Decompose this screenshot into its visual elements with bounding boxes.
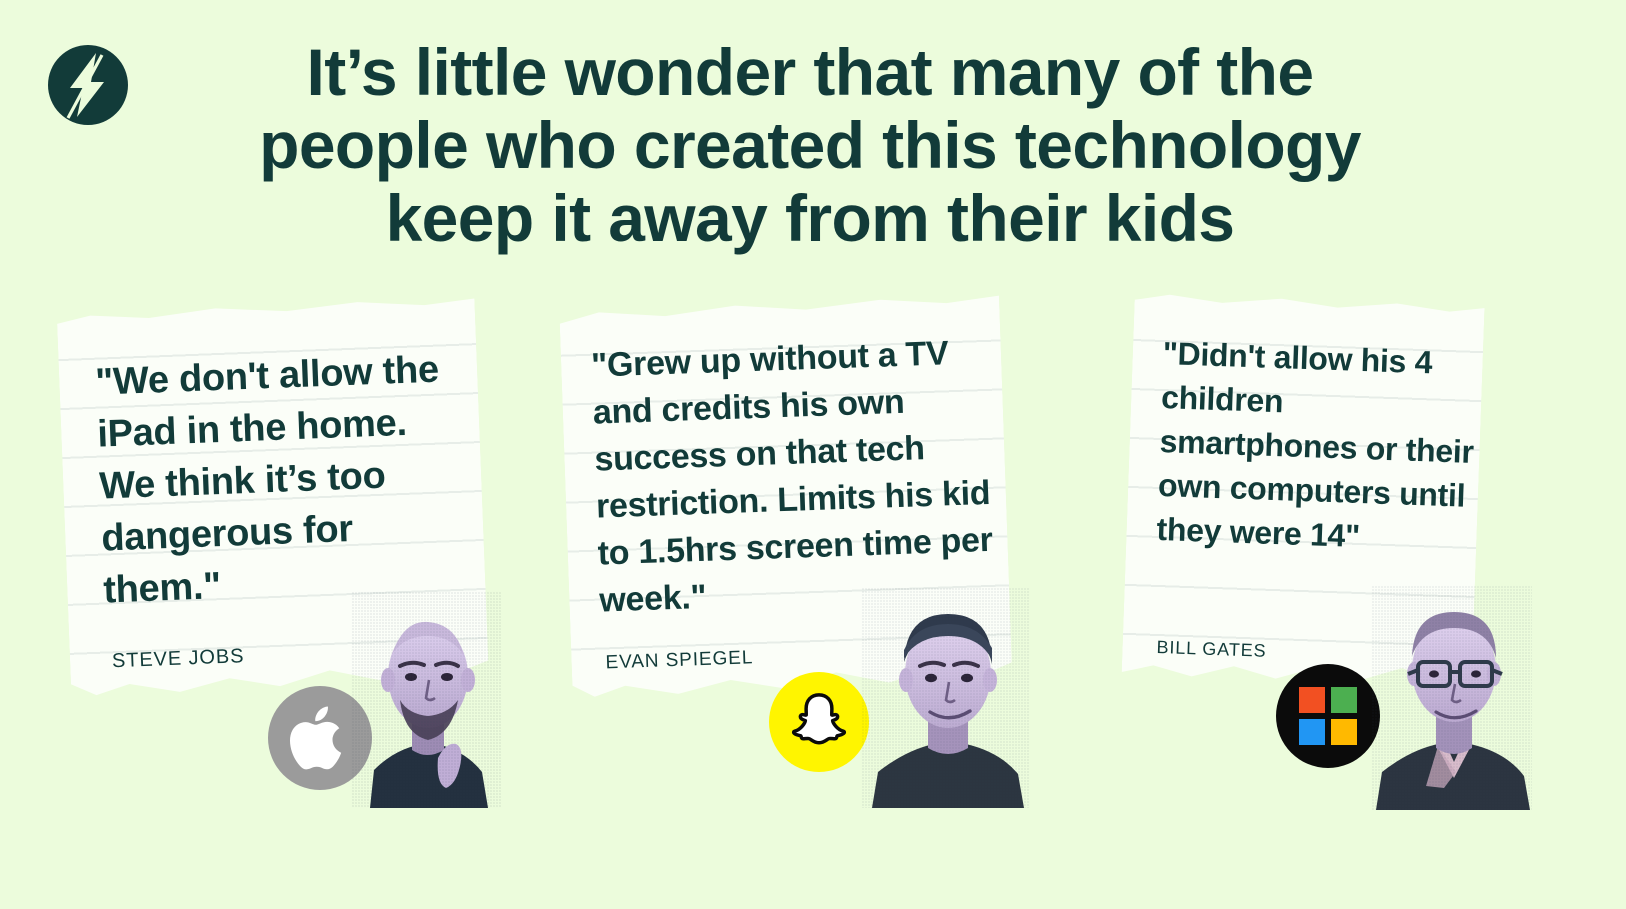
quote-text: "Didn't allow his 4 children smartphones… [1156, 331, 1483, 562]
page-title: It’s little wonder that many of the peop… [190, 36, 1430, 255]
quote-attribution: EVAN SPIEGEL [605, 647, 753, 674]
snapchat-ghost-icon [769, 672, 869, 772]
infographic-canvas: It’s little wonder that many of the peop… [0, 0, 1626, 909]
portrait-bill-gates [1372, 586, 1532, 810]
headline-line-2: people who created this technology [190, 109, 1430, 182]
microsoft-logo-icon [1276, 664, 1380, 768]
quote-attribution: BILL GATES [1156, 637, 1267, 662]
quote-attribution: STEVE JOBS [112, 645, 245, 673]
headline-line-3: keep it away from their kids [190, 182, 1430, 255]
quote-text: "Grew up without a TV and credits his ow… [590, 329, 1005, 625]
portrait-steve-jobs [352, 592, 502, 808]
quote-text: "We don't allow the iPad in the home. We… [94, 342, 479, 616]
lightning-bolt-logo [47, 44, 129, 126]
headline-line-1: It’s little wonder that many of the [190, 36, 1430, 109]
portrait-evan-spiegel [862, 588, 1030, 808]
